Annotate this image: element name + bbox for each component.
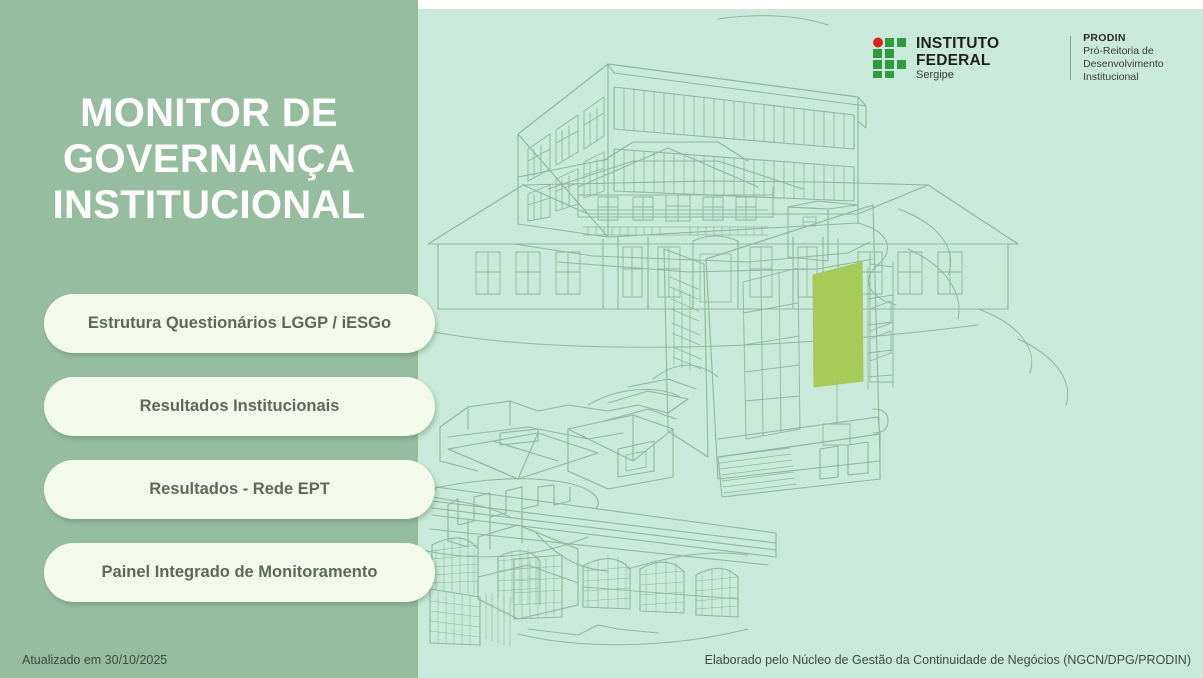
nav-button-label: Resultados - Rede EPT (149, 480, 330, 499)
logo-divider (1070, 36, 1071, 80)
building-angular-pavilion (418, 379, 748, 571)
logo-institution-text: INSTITUTO FEDERAL Sergipe (916, 35, 1056, 82)
nav-button-resultados-institucionais[interactable]: Resultados Institucionais (44, 377, 435, 436)
footer-credit: Elaborado pelo Núcleo de Gestão da Conti… (705, 653, 1191, 667)
page-title-line-2: GOVERNANÇA (0, 136, 418, 182)
page-title-line-1: MONITOR DE (0, 90, 418, 136)
illustration-panel (418, 9, 1203, 678)
nav-button-label: Estrutura Questionários LGGP / iESGo (88, 314, 391, 333)
instituto-federal-logo-icon (872, 37, 908, 79)
page-title-line-3: INSTITUCIONAL (0, 182, 418, 228)
logo-campus-name: Sergipe (916, 69, 1056, 82)
nav-button-resultados-rede-ept[interactable]: Resultados - Rede EPT (44, 460, 435, 519)
logo-unit-acronym: PRODIN (1083, 32, 1203, 45)
presentation-slide: INSTITUTO FEDERAL Sergipe PRODIN Pró-Rei… (0, 0, 1203, 678)
logo-institution-name: INSTITUTO FEDERAL (916, 35, 1056, 69)
institutional-logo: INSTITUTO FEDERAL Sergipe PRODIN Pró-Rei… (872, 33, 1203, 83)
nav-button-estrutura-questionarios[interactable]: Estrutura Questionários LGGP / iESGo (44, 294, 435, 353)
nav-button-label: Painel Integrado de Monitoramento (102, 563, 378, 582)
logo-unit-text: PRODIN Pró-Reitoria de Desenvolvimento I… (1083, 32, 1203, 84)
building-arcade (430, 487, 776, 646)
sidebar: MONITOR DE GOVERNANÇA INSTITUCIONAL Estr… (0, 0, 418, 678)
building-historic-house (418, 142, 1018, 347)
logo-unit-line2: Desenvolvimento Institucional (1083, 58, 1203, 84)
page-title: MONITOR DE GOVERNANÇA INSTITUCIONAL (0, 90, 418, 228)
footer-updated-date: Atualizado em 30/10/2025 (22, 653, 167, 667)
campus-buildings-line-art (418, 9, 1203, 678)
logo-unit-line1: Pró-Reitoria de (1083, 45, 1203, 58)
nav-button-label: Resultados Institucionais (140, 397, 340, 416)
nav-button-painel-integrado[interactable]: Painel Integrado de Monitoramento (44, 543, 435, 602)
